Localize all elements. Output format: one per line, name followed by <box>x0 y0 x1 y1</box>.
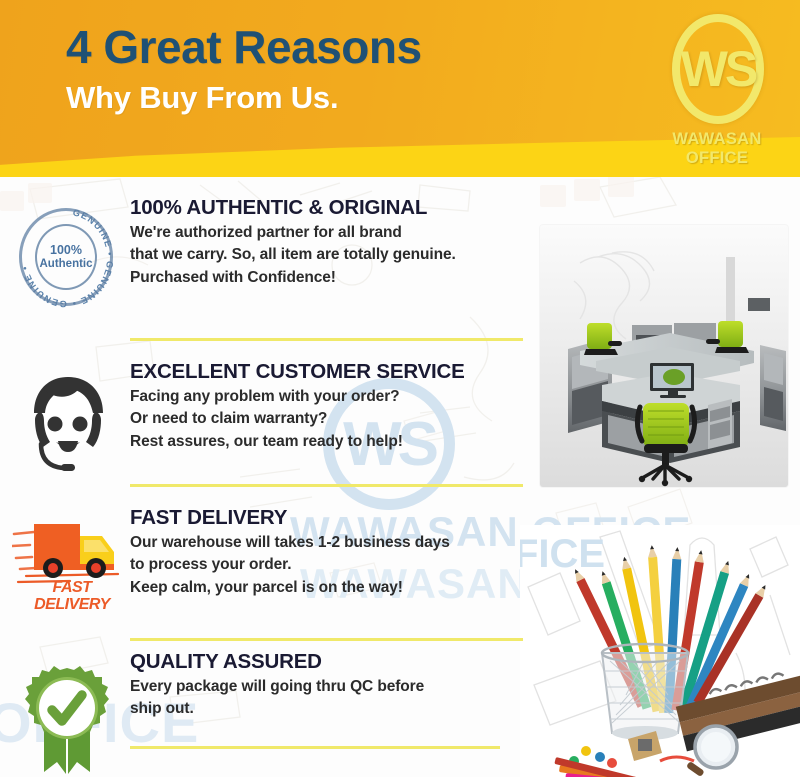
feature-row-fast-delivery: FAST DELIVERY FAST DELIVERY Our warehous… <box>0 506 520 656</box>
svg-text:FICE: FICE <box>520 532 605 576</box>
feature-line: Purchased with Confidence! <box>130 267 520 289</box>
feature-line: Our warehouse will takes 1-2 business da… <box>130 532 520 554</box>
feature-line: Rest assures, our team ready to help! <box>130 431 520 453</box>
stamp-center-text: 100% Authentic <box>35 224 97 290</box>
section-divider <box>130 338 523 341</box>
feature-line: Keep calm, your parcel is on the way! <box>130 577 520 599</box>
quality-rosette-icon <box>12 656 120 774</box>
feature-row-authentic: GENUINE • GENUINE • GENUINE • 100% Authe… <box>0 196 520 346</box>
feature-line: Facing any problem with your order? <box>130 386 520 408</box>
feature-line: that we carry. So, all item are totally … <box>130 244 520 266</box>
feature-title: FAST DELIVERY <box>130 506 520 530</box>
feature-text-quality-assured: QUALITY ASSURED Every package will going… <box>130 650 520 721</box>
truck-label-line2: DELIVERY <box>20 597 124 614</box>
office-workstation-photo <box>540 225 788 487</box>
section-divider <box>130 484 523 487</box>
feature-row-quality-assured: QUALITY ASSURED Every package will going… <box>0 650 520 777</box>
stamp-authentic-label: Authentic <box>39 258 92 272</box>
feature-row-customer-service: EXCELLENT CUSTOMER SERVICE Facing any pr… <box>0 360 520 510</box>
truck-label-line1: FAST <box>20 580 124 597</box>
page-title: 4 Great Reasons <box>66 23 626 73</box>
logo-initials: WS <box>672 14 764 124</box>
feature-title: QUALITY ASSURED <box>130 650 520 674</box>
page-subtitle: Why Buy From Us. <box>66 79 626 118</box>
feature-line: ship out. <box>130 698 520 720</box>
stationery-photo: FICE <box>520 525 800 777</box>
delivery-truck-icon: FAST DELIVERY <box>12 512 120 630</box>
brand-logo[interactable]: WS WAWASAN OFFICE <box>642 12 792 162</box>
promo-banner-page: 4 Great Reasons Why Buy From Us. WS WAWA… <box>0 0 800 777</box>
header-title-block: 4 Great Reasons Why Buy From Us. <box>66 23 626 117</box>
feature-title: 100% AUTHENTIC & ORIGINAL <box>130 196 520 220</box>
logo-brand-name: WAWASAN OFFICE <box>642 130 792 168</box>
feature-line: Or need to claim warranty? <box>130 408 520 430</box>
section-divider <box>130 638 523 641</box>
feature-line: We're authorized partner for all brand <box>130 222 520 244</box>
stamp-percent-label: 100% <box>50 243 82 258</box>
genuine-stamp-icon: GENUINE • GENUINE • GENUINE • 100% Authe… <box>12 202 120 320</box>
feature-title: EXCELLENT CUSTOMER SERVICE <box>130 360 520 384</box>
feature-line: to process your order. <box>130 554 520 576</box>
section-divider <box>130 746 500 749</box>
feature-line: Every package will going thru QC before <box>130 676 520 698</box>
headset-support-icon <box>12 366 120 484</box>
header-wave-baseline <box>0 171 800 177</box>
feature-text-customer-service: EXCELLENT CUSTOMER SERVICE Facing any pr… <box>130 360 520 453</box>
header-banner: 4 Great Reasons Why Buy From Us. WS WAWA… <box>0 0 800 177</box>
feature-text-fast-delivery: FAST DELIVERY Our warehouse will takes 1… <box>130 506 520 599</box>
truck-label: FAST DELIVERY <box>20 580 124 614</box>
feature-text-authentic: 100% AUTHENTIC & ORIGINAL We're authoriz… <box>130 196 520 289</box>
